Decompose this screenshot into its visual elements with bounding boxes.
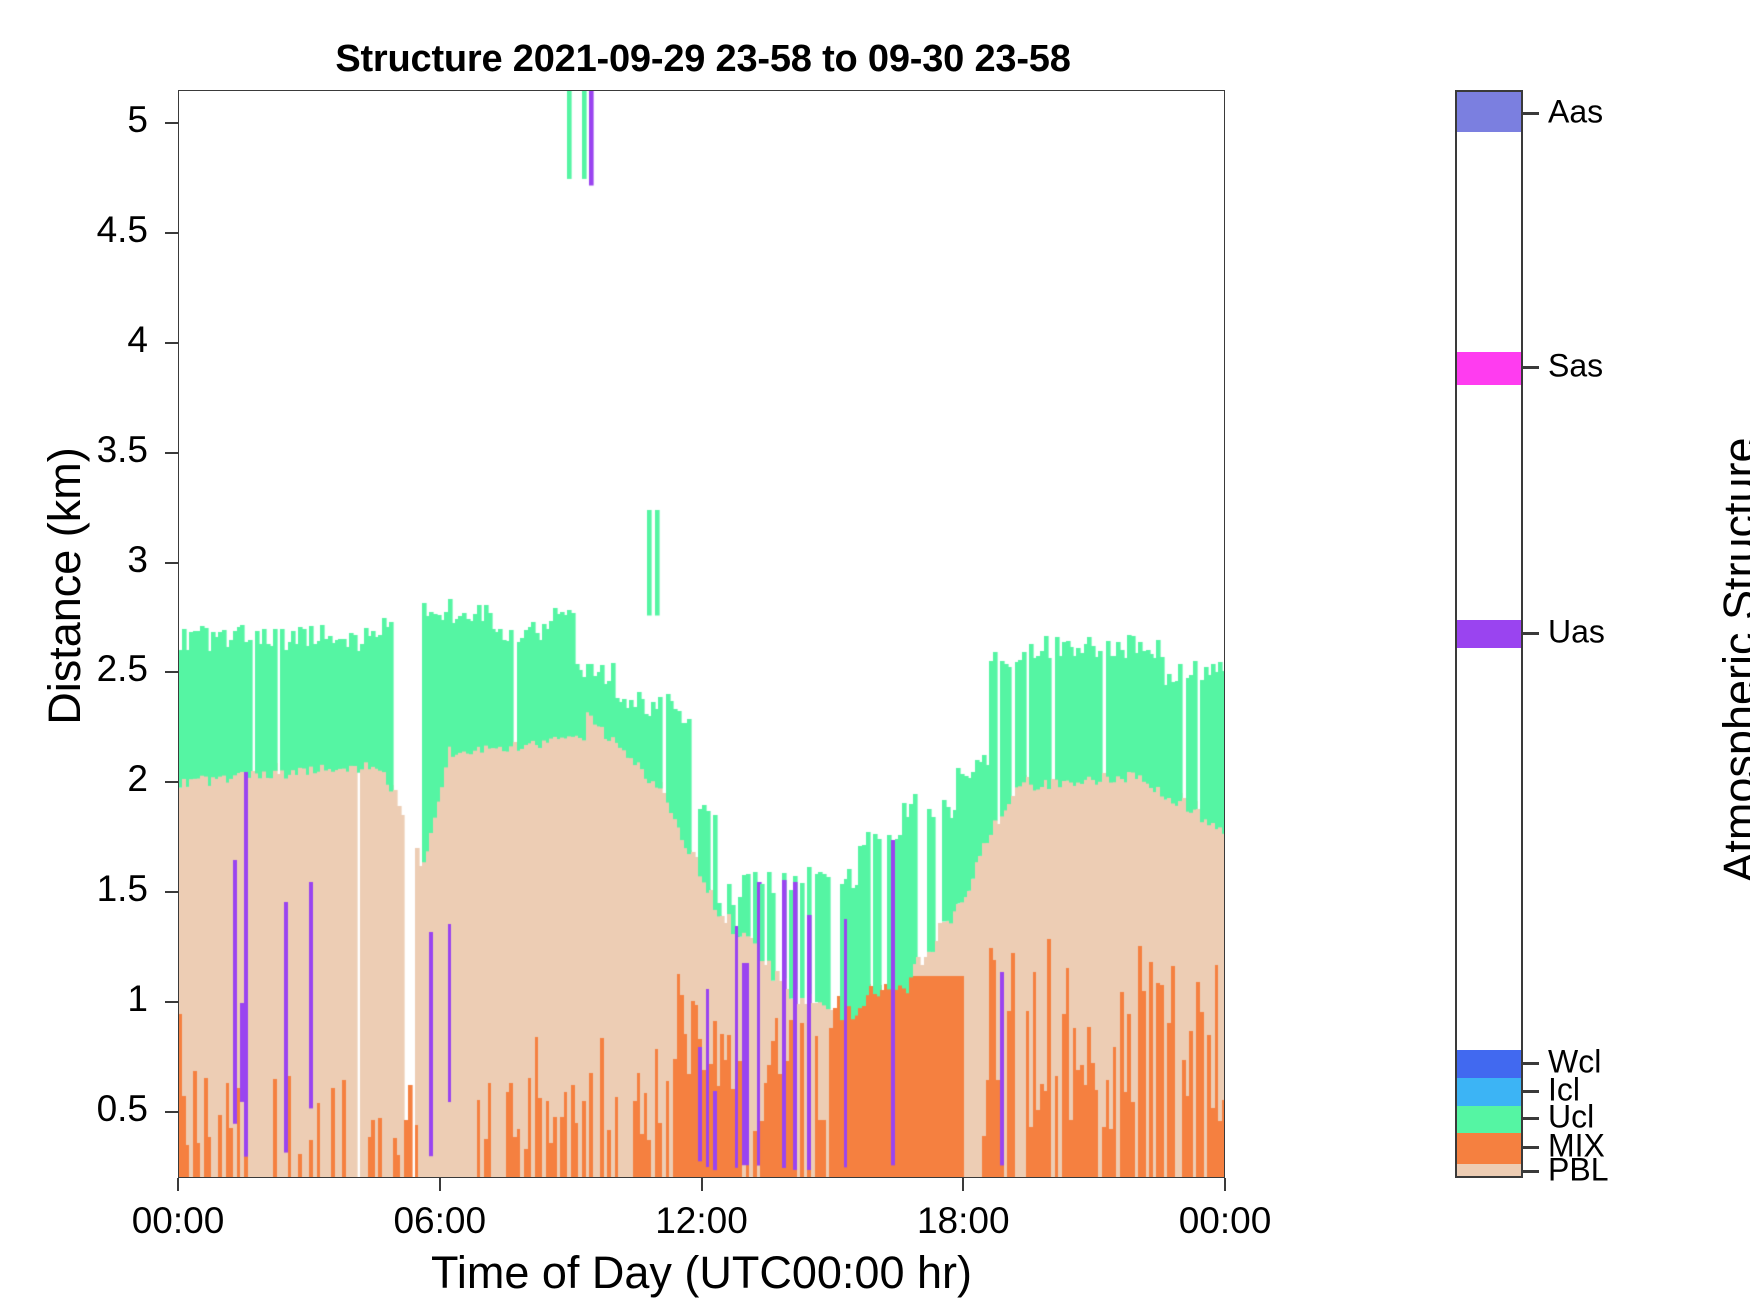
x-tick-label: 12:00 <box>655 1200 748 1242</box>
x-tick-mark <box>962 1178 964 1191</box>
page-title: Structure 2021-09-29 23-58 to 09-30 23-5… <box>178 38 1228 81</box>
y-tick-mark <box>165 671 178 673</box>
colorbar-tick-mark <box>1523 1146 1539 1149</box>
colorbar-title: Atmospheric Structure <box>1714 360 1750 960</box>
y-tick-mark <box>165 452 178 454</box>
y-tick-mark <box>165 1111 178 1113</box>
x-tick-label: 18:00 <box>917 1200 1010 1242</box>
colorbar-label-uas: Uas <box>1548 614 1605 651</box>
x-tick-label: 00:00 <box>132 1200 225 1242</box>
y-axis-title: Distance (km) <box>39 336 91 836</box>
colorbar-label-aas: Aas <box>1548 94 1603 131</box>
y-tick-mark <box>165 1001 178 1003</box>
y-tick-label: 3 <box>127 541 148 578</box>
x-tick-mark <box>701 1178 703 1191</box>
y-tick-label: 1 <box>127 980 148 1017</box>
colorbar-tick-mark <box>1523 112 1539 115</box>
y-tick-label: 3.5 <box>97 431 148 468</box>
atmospheric-structure-figure: Structure 2021-09-29 23-58 to 09-30 23-5… <box>0 0 1750 1313</box>
colorbar-tick-mark <box>1523 1170 1539 1173</box>
y-tick-mark <box>165 232 178 234</box>
y-tick-label: 2.5 <box>97 650 148 687</box>
colorbar-band-ucl <box>1457 1106 1521 1133</box>
colorbar-tick-mark <box>1523 1117 1539 1120</box>
x-axis-title: Time of Day (UTC00:00 hr) <box>178 1247 1225 1299</box>
y-tick-mark <box>165 781 178 783</box>
colorbar-label-sas: Sas <box>1548 348 1603 385</box>
colorbar-tick-mark <box>1523 366 1539 369</box>
y-tick-label: 1.5 <box>97 870 148 907</box>
y-tick-label: 2 <box>127 760 148 797</box>
y-tick-mark <box>165 562 178 564</box>
colorbar-band-mix <box>1457 1133 1521 1164</box>
y-tick-label: 4.5 <box>97 211 148 248</box>
colorbar-band-icl <box>1457 1078 1521 1106</box>
structure-plot-canvas <box>179 91 1225 1178</box>
colorbar <box>1455 90 1523 1178</box>
colorbar-band-uas <box>1457 620 1521 648</box>
y-tick-mark <box>165 122 178 124</box>
x-tick-mark <box>177 1178 179 1191</box>
y-tick-label: 4 <box>127 321 148 358</box>
colorbar-band-wcl <box>1457 1050 1521 1078</box>
colorbar-tick-mark <box>1523 1090 1539 1093</box>
plot-area <box>178 90 1225 1178</box>
y-tick-label: 0.5 <box>97 1090 148 1127</box>
x-tick-label: 00:00 <box>1179 1200 1272 1242</box>
colorbar-band-sas <box>1457 352 1521 385</box>
x-tick-label: 06:00 <box>393 1200 486 1242</box>
y-tick-mark <box>165 891 178 893</box>
colorbar-tick-mark <box>1523 632 1539 635</box>
colorbar-band-aas <box>1457 92 1521 132</box>
y-tick-label: 5 <box>127 101 148 138</box>
colorbar-tick-mark <box>1523 1062 1539 1065</box>
colorbar-label-pbl: PBL <box>1548 1152 1608 1189</box>
colorbar-band-pbl <box>1457 1164 1521 1178</box>
x-tick-mark <box>1224 1178 1226 1191</box>
y-tick-mark <box>165 342 178 344</box>
x-tick-mark <box>439 1178 441 1191</box>
